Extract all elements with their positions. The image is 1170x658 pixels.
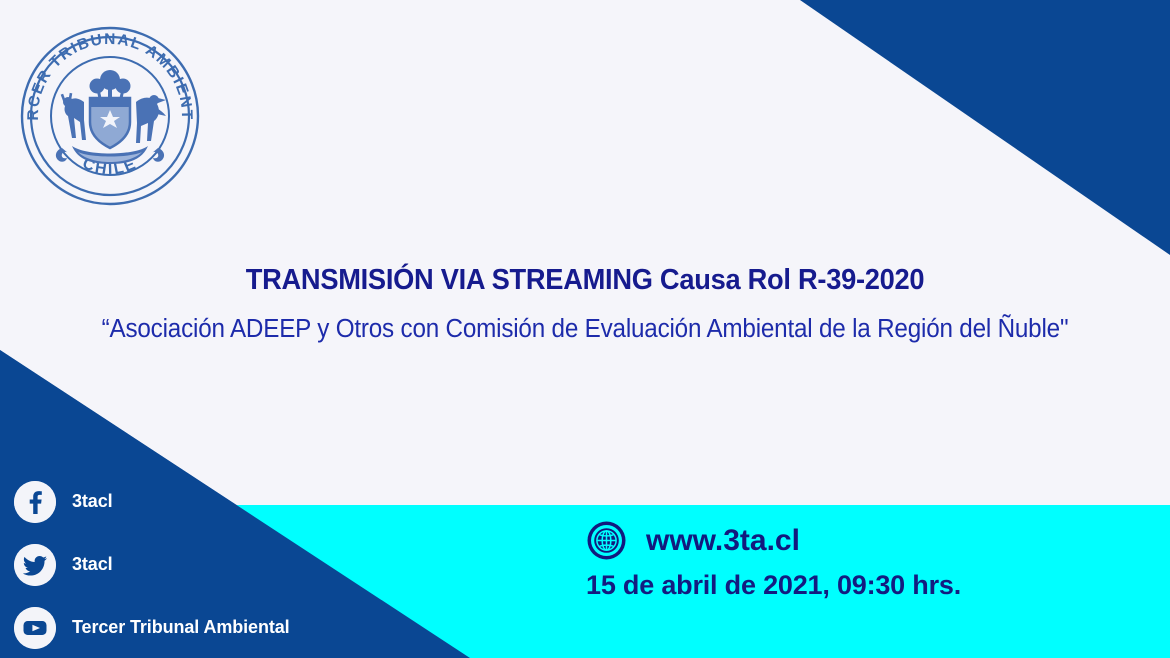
social-label-youtube: Tercer Tribunal Ambiental [72, 617, 290, 638]
tribunal-seal-icon: TERCER TRIBUNAL AMBIENTAL CHILE [12, 18, 208, 214]
twitter-icon [14, 544, 56, 586]
facebook-icon [14, 481, 56, 523]
case-subtitle: “Asociación ADEEP y Otros con Comisión d… [29, 315, 1141, 344]
page-title: TRANSMISIÓN VIA STREAMING Causa Rol R-39… [35, 264, 1135, 297]
social-item-facebook[interactable]: 3tacl [14, 470, 344, 533]
social-item-youtube[interactable]: Tercer Tribunal Ambiental [14, 596, 344, 658]
event-datetime: 15 de abril de 2021, 09:30 hrs. [586, 570, 961, 601]
youtube-icon [14, 607, 56, 649]
website-row[interactable]: www.3ta.cl [586, 520, 961, 561]
decorative-triangle-top-right [800, 0, 1170, 255]
social-media-list: 3tacl 3tacl Tercer Tribunal Ambiental [14, 470, 344, 658]
social-label-facebook: 3tacl [72, 491, 113, 512]
website-url[interactable]: www.3ta.cl [646, 524, 800, 558]
web-info-block: www.3ta.cl 15 de abril de 2021, 09:30 hr… [586, 520, 961, 601]
social-item-twitter[interactable]: 3tacl [14, 533, 344, 596]
globe-icon [586, 520, 627, 561]
streaming-announcement-banner: TERCER TRIBUNAL AMBIENTAL CHILE [0, 0, 1170, 658]
social-label-twitter: 3tacl [72, 554, 113, 575]
headline-block: TRANSMISIÓN VIA STREAMING Causa Rol R-39… [0, 264, 1170, 344]
